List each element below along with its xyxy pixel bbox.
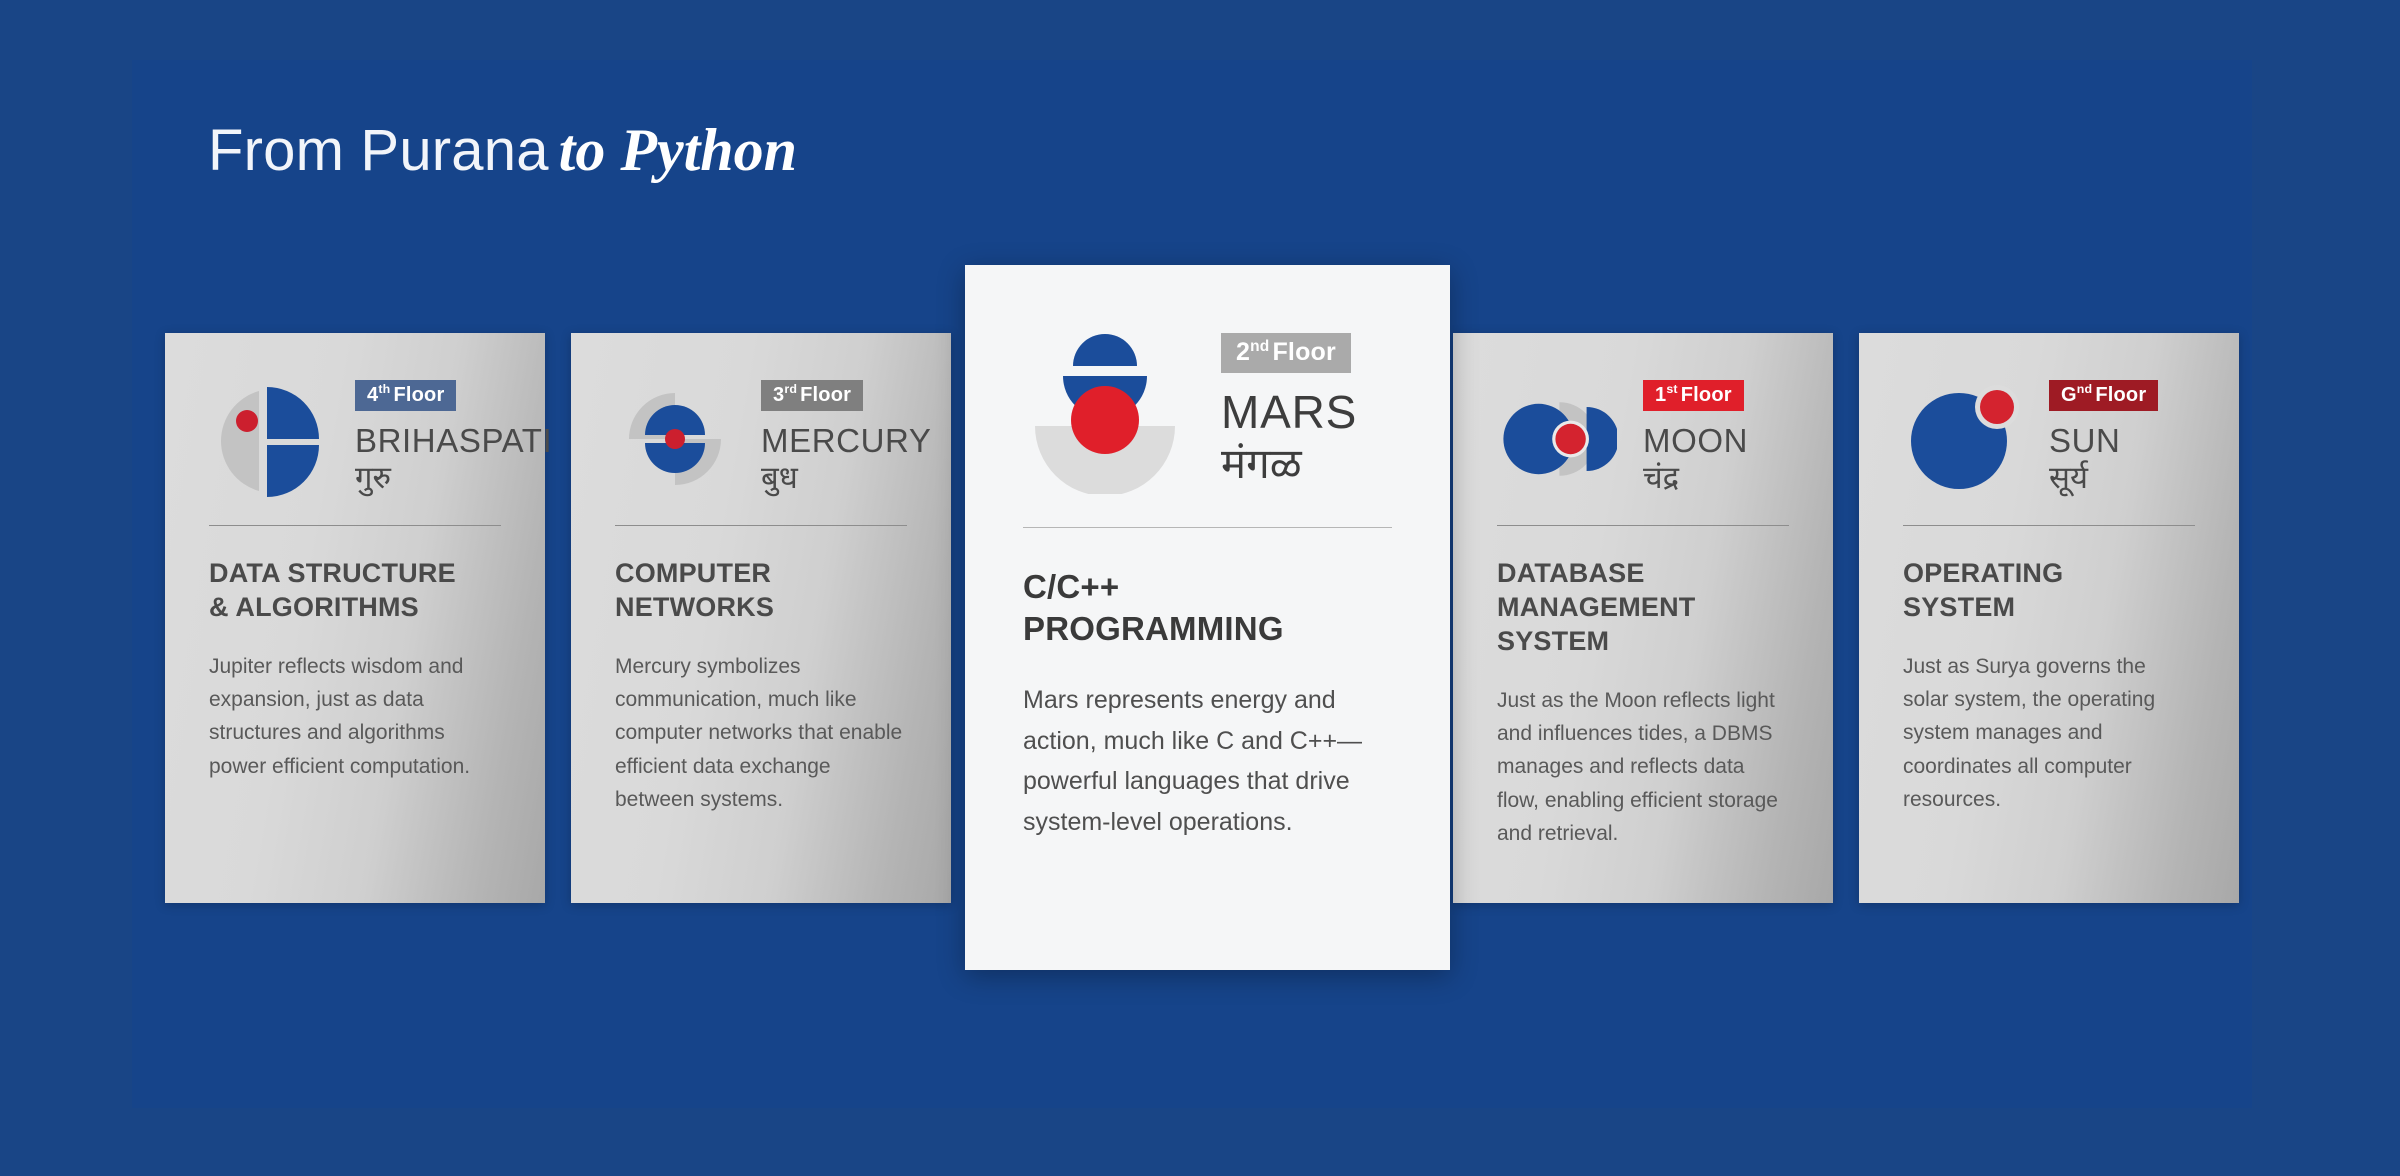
card-divider: [1497, 525, 1789, 526]
title-part-two: to Python: [559, 117, 797, 183]
page-title: From Puranato Python: [208, 120, 797, 180]
card-head-text: 1stFloor MOON चंद्र: [1643, 380, 1748, 498]
brihaspati-pie-icon: [209, 379, 329, 499]
floor-badge: 2ndFloor: [1221, 333, 1351, 373]
card-head-text: GndFloor SUN सूर्य: [2049, 380, 2158, 498]
card-header: 2ndFloor MARS मंगळ: [1023, 319, 1392, 505]
course-card-mars[interactable]: 2ndFloor MARS मंगळ C/C++ PROGRAMMING Mar…: [965, 265, 1450, 970]
subject-title: COMPUTER NETWORKS: [615, 556, 907, 624]
subject-description: Just as Surya governs the solar system, …: [1903, 650, 2195, 816]
floor-word: Floor: [393, 384, 444, 406]
planet-name-hindi: चंद्र: [1643, 459, 1748, 498]
subject-title: C/C++ PROGRAMMING: [1023, 566, 1392, 650]
brihaspati-pie-svg: [209, 379, 329, 499]
subject-title: DATA STRUCTURE & ALGORITHMS: [209, 556, 501, 624]
floor-word: Floor: [2095, 384, 2146, 406]
mars-dome-svg: [1023, 330, 1187, 494]
floor-word: Floor: [800, 384, 851, 406]
planet-name-english: MERCURY: [761, 423, 907, 459]
planet-name-hindi: गुरु: [355, 459, 501, 498]
floor-ordinal-suffix: nd: [2077, 382, 2093, 396]
title-part-one: From Purana: [208, 118, 549, 183]
floor-ordinal-suffix: rd: [784, 382, 797, 396]
planet-name-hindi: मंगळ: [1221, 438, 1357, 491]
course-card-brihaspati[interactable]: 4thFloor BRIHASPATI गुरु DATA STRUCTURE …: [165, 333, 545, 903]
card-divider: [209, 525, 501, 526]
card-divider: [1023, 527, 1392, 528]
planet-name-english: SUN: [2049, 423, 2158, 459]
card-divider: [615, 525, 907, 526]
course-card-row: 4thFloor BRIHASPATI गुरु DATA STRUCTURE …: [165, 333, 2240, 973]
card-divider: [1903, 525, 2195, 526]
floor-badge: 3rdFloor: [761, 380, 863, 411]
floor-ordinal-suffix: nd: [1250, 338, 1269, 355]
card-head-text: 2ndFloor MARS मंगळ: [1221, 333, 1357, 490]
floor-badge: 1stFloor: [1643, 380, 1744, 411]
card-header: 4thFloor BRIHASPATI गुरु: [209, 369, 501, 509]
subject-title: DATABASE MANAGEMENT SYSTEM: [1497, 556, 1789, 658]
planet-name-english: MOON: [1643, 423, 1748, 459]
course-card-mercury[interactable]: 3rdFloor MERCURY बुध COMPUTER NETWORKS M…: [571, 333, 951, 903]
mercury-pinwheel-svg: [615, 379, 735, 499]
sun-disc-icon: [1903, 379, 2023, 499]
subject-description: Mars represents energy and action, much …: [1023, 680, 1392, 842]
floor-number: G: [2061, 384, 2077, 406]
floor-number: 1: [1655, 384, 1666, 406]
subject-description: Just as the Moon reflects light and infl…: [1497, 684, 1789, 850]
floor-word: Floor: [1681, 384, 1732, 406]
subject-title: OPERATING SYSTEM: [1903, 556, 2195, 624]
moon-crescent-icon: [1497, 379, 1617, 499]
planet-name-hindi: बुध: [761, 459, 907, 498]
floor-number: 2: [1236, 338, 1250, 366]
floor-number: 3: [773, 384, 784, 406]
floor-ordinal-suffix: st: [1666, 382, 1677, 396]
floor-badge: 4thFloor: [355, 380, 456, 411]
floor-word: Floor: [1272, 338, 1336, 366]
planet-name-english: BRIHASPATI: [355, 423, 501, 459]
subject-description: Mercury symbolizes communication, much l…: [615, 650, 907, 816]
card-header: 3rdFloor MERCURY बुध: [615, 369, 907, 509]
planet-name-hindi: सूर्य: [2049, 459, 2158, 498]
course-card-moon[interactable]: 1stFloor MOON चंद्र DATABASE MANAGEMENT …: [1453, 333, 1833, 903]
card-header: GndFloor SUN सूर्य: [1903, 369, 2195, 509]
infographic-stage: From Puranato Python 4thFloor BRIHASPATI…: [0, 0, 2400, 1176]
course-card-sun[interactable]: GndFloor SUN सूर्य OPERATING SYSTEM Just…: [1859, 333, 2239, 903]
planet-name-english: MARS: [1221, 387, 1357, 438]
card-header: 1stFloor MOON चंद्र: [1497, 369, 1789, 509]
sun-disc-svg: [1903, 379, 2023, 499]
subject-description: Jupiter reflects wisdom and expansion, j…: [209, 650, 501, 783]
floor-number: 4: [367, 384, 378, 406]
card-head-text: 4thFloor BRIHASPATI गुरु: [355, 380, 501, 498]
mars-dome-icon: [1023, 330, 1187, 494]
moon-crescent-svg: [1497, 379, 1617, 499]
mercury-pinwheel-icon: [615, 379, 735, 499]
floor-badge: GndFloor: [2049, 380, 2158, 411]
floor-ordinal-suffix: th: [378, 382, 390, 396]
card-head-text: 3rdFloor MERCURY बुध: [761, 380, 907, 498]
